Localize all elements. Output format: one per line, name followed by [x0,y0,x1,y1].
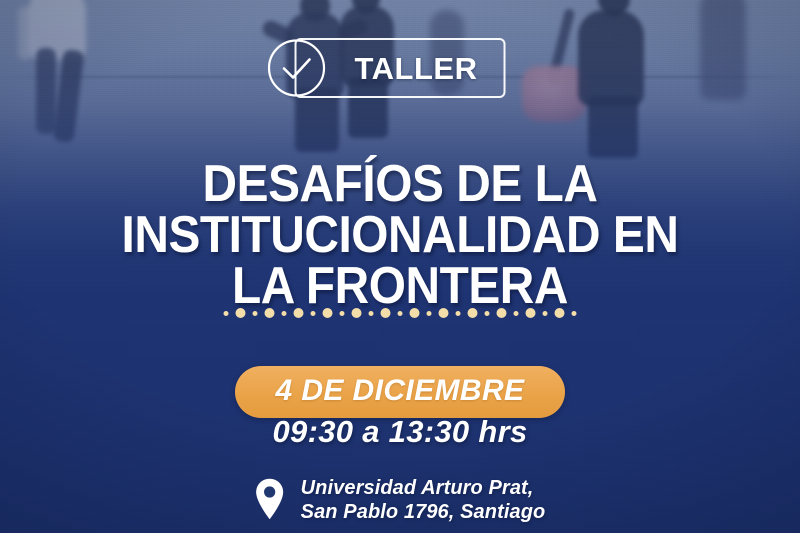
divider-dot-large [236,308,246,318]
divider-dot-small [514,311,519,316]
divider-dot-small [253,311,258,316]
event-poster: TALLER DESAFÍOS DE LA INSTITUCIONALIDAD … [0,0,800,533]
dotted-divider [224,306,577,320]
time-label: 09:30 a 13:30 hrs [0,414,800,450]
venue-address: Universidad Arturo Prat, San Pablo 1796,… [301,476,546,525]
divider-dot-large [352,308,362,318]
venue-line-1: Universidad Arturo Prat, [301,476,546,500]
title-line-2: INSTITUCIONALIDAD EN [32,210,768,261]
divider-dot-small [340,311,345,316]
date-label: 4 DE DICIEMBRE [269,375,531,407]
divider-dot-large [468,308,478,318]
venue-block: Universidad Arturo Prat, San Pablo 1796,… [255,476,546,525]
divider-dot-large [410,308,420,318]
divider-dot-large [323,308,333,318]
divider-dot-large [555,308,565,318]
divider-dot-small [282,311,287,316]
divider-dot-large [265,308,275,318]
divider-dot-large [526,308,536,318]
date-pill: 4 DE DICIEMBRE [235,366,565,418]
divider-dot-small [311,311,316,316]
divider-dot-large [439,308,449,318]
divider-dot-small [456,311,461,316]
check-circle-icon [267,38,327,98]
taller-badge: TALLER [295,38,506,98]
divider-dot-small [224,311,229,316]
divider-dot-large [381,308,391,318]
divider-dot-small [572,311,577,316]
divider-dot-small [427,311,432,316]
divider-dot-small [485,311,490,316]
divider-dot-small [398,311,403,316]
venue-line-2: San Pablo 1796, Santiago [301,500,546,524]
title-line-3: LA FRONTERA [32,261,768,312]
poster-title: DESAFÍOS DE LA INSTITUCIONALIDAD EN LA F… [32,159,768,312]
taller-badge-label: TALLER [355,53,478,84]
location-pin-icon [255,478,285,520]
divider-dot-large [497,308,507,318]
divider-dot-small [369,311,374,316]
poster-content: TALLER DESAFÍOS DE LA INSTITUCIONALIDAD … [0,0,800,533]
title-line-1: DESAFÍOS DE LA [32,159,768,210]
divider-dot-small [543,311,548,316]
divider-dot-large [294,308,304,318]
